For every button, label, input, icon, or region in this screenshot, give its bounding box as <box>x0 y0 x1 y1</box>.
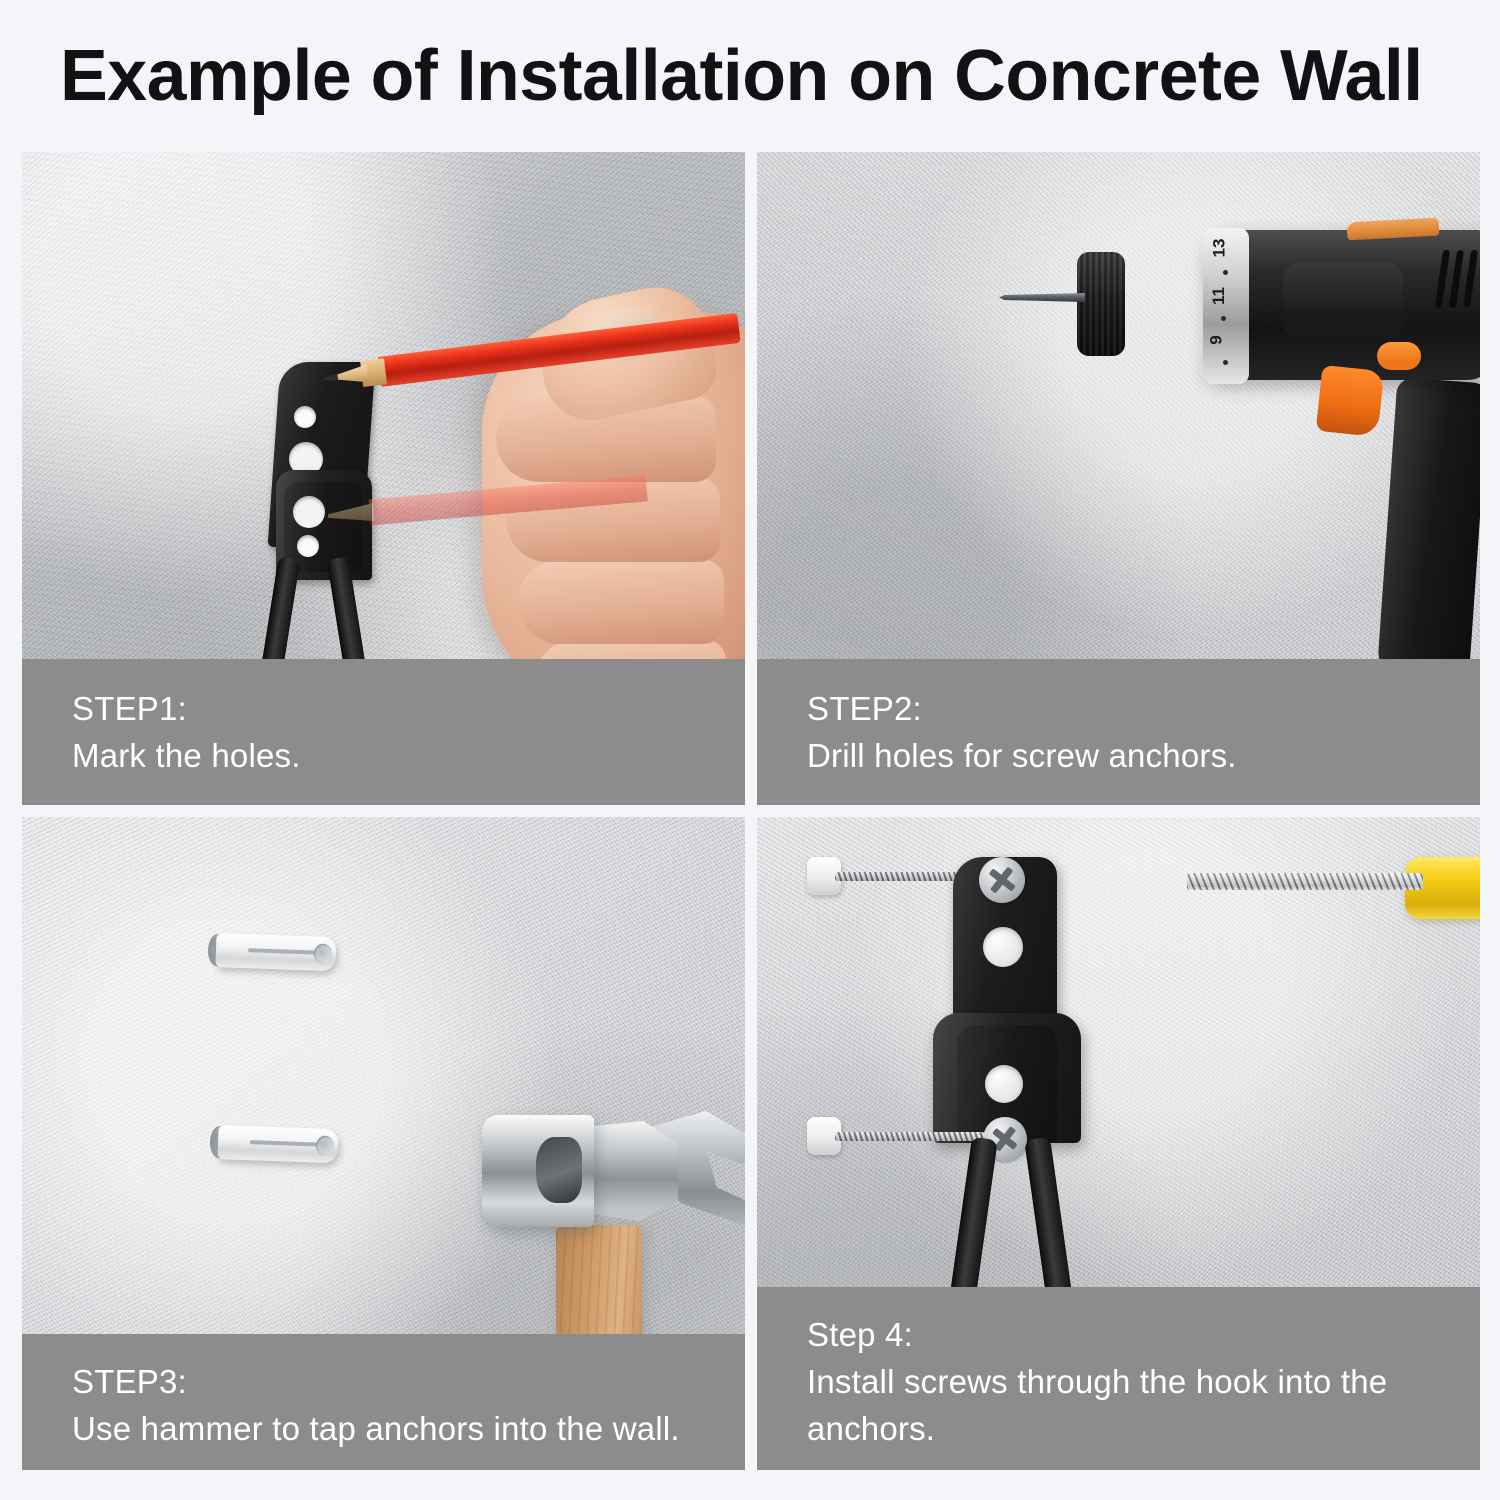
step-panel-1: STEP1: Mark the holes. <box>22 152 745 805</box>
steps-grid: STEP1: Mark the holes. <box>22 152 1479 1470</box>
screw-head-top <box>979 857 1025 903</box>
hammer-neck <box>586 1121 678 1221</box>
drill-collar-dot <box>1221 316 1226 321</box>
drill-direction-switch <box>1377 342 1421 370</box>
step-1-text: Mark the holes. <box>72 732 697 779</box>
screw-icon <box>835 1132 985 1141</box>
pencil-ghost-tip <box>327 503 374 525</box>
installation-guide-page: Example of Installation on Concrete Wall <box>0 0 1500 1500</box>
step-2-text: Drill holes for screw anchors. <box>807 732 1432 779</box>
page-title: Example of Installation on Concrete Wall <box>60 33 1453 119</box>
hook-mounting-hole-2 <box>983 927 1023 967</box>
step-3-text: Use hammer to tap anchors into the wall. <box>72 1405 697 1452</box>
drill-chuck-nose <box>1077 252 1125 356</box>
step-panel-4: Step 4: Install screws through the hook … <box>757 817 1480 1470</box>
step-4-label: Step 4: <box>807 1311 1432 1358</box>
step-3-label: STEP3: <box>72 1358 697 1405</box>
step-4-caption: Step 4: Install screws through the hook … <box>757 1287 1480 1470</box>
drill-collar-dot <box>1223 360 1228 365</box>
drill-vent-slot <box>1463 250 1478 308</box>
anchor-icon <box>209 1125 338 1163</box>
screwdriver-shaft <box>1187 873 1423 890</box>
step-2-label: STEP2: <box>807 685 1432 732</box>
anchor-icon <box>207 933 336 971</box>
step-panel-3: STEP3: Use hammer to tap anchors into th… <box>22 817 745 1470</box>
drill-vents <box>1439 250 1480 316</box>
hand-finger-3 <box>518 560 724 644</box>
step-3-caption: STEP3: Use hammer to tap anchors into th… <box>22 1334 745 1470</box>
hook-mounting-hole-3 <box>985 1065 1023 1103</box>
pencil-lead <box>322 373 339 383</box>
drill-chuck-sleeve <box>1117 244 1213 366</box>
screw-icon <box>835 872 967 881</box>
drill-handle <box>1377 377 1480 683</box>
drill-trigger <box>1316 365 1385 437</box>
step-2-caption: STEP2: Drill holes for screw anchors. <box>757 659 1480 805</box>
drill-collar-dot <box>1223 270 1228 275</box>
hook-mounting-hole-4 <box>297 535 319 557</box>
step-1-caption: STEP1: Mark the holes. <box>22 659 745 805</box>
step-4-text: Install screws through the hook into the… <box>807 1358 1432 1452</box>
drill-icon: 13 11 9 <box>1057 172 1480 692</box>
hook-mounting-hole-1 <box>294 406 316 428</box>
drill-body-panel <box>1283 262 1403 340</box>
step-panel-2: 13 11 9 <box>757 152 1480 805</box>
hammer-head <box>482 1107 726 1235</box>
drill-vent-slot <box>1449 250 1464 308</box>
step-1-label: STEP1: <box>72 685 697 732</box>
hammer-striking-face <box>482 1115 594 1227</box>
screwdriver-icon <box>1187 837 1480 947</box>
